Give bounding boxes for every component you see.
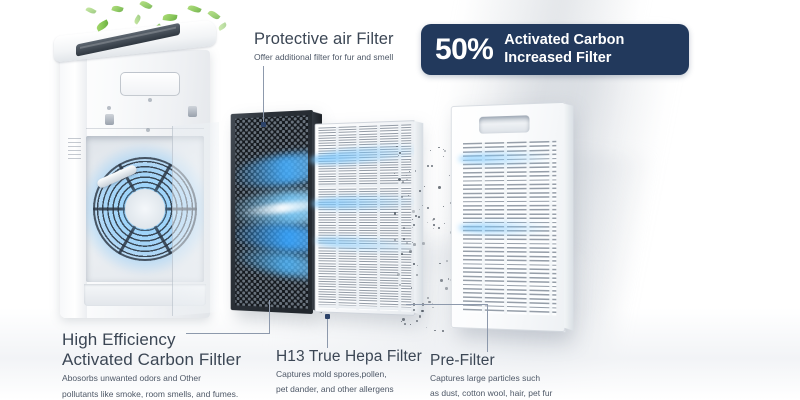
dust-particle: [418, 216, 420, 218]
purifier-side-vent: [68, 138, 81, 160]
dust-particle: [401, 196, 403, 198]
dust-particle: [404, 323, 406, 325]
pre-filter-handle-slot: [479, 115, 529, 134]
label-protective-air-filter: Protective air Filter Offer additional f…: [254, 30, 394, 64]
badge-text: Activated Carbon Increased Filter: [504, 32, 624, 67]
dust-particle: [401, 253, 403, 255]
dust-particle: [398, 178, 401, 181]
label-subtitle-line2: pet dander, and other allergens: [276, 384, 422, 396]
badge-text-line2: Increased Filter: [504, 50, 624, 68]
dust-particle: [421, 310, 424, 313]
leaf: [85, 6, 96, 15]
dust-particle: [416, 274, 419, 277]
label-subtitle-line2: pollutants like smoke, room smells, and …: [62, 389, 241, 400]
dust-particle: [419, 315, 422, 318]
dust-particle: [427, 222, 428, 223]
dust-particle: [413, 303, 416, 306]
purifier-left-face: [60, 50, 87, 318]
dust-particle: [430, 150, 431, 151]
dust-particle: [431, 165, 433, 167]
dust-particle: [413, 243, 416, 246]
dust-particle: [445, 287, 448, 290]
dust-particle: [419, 190, 421, 192]
promo-badge: 50% Activated Carbon Increased Filter: [421, 24, 689, 75]
label-subtitle: Offer additional filter for fur and smel…: [254, 52, 394, 64]
dust-particle: [440, 279, 443, 282]
purifier-latch: [188, 106, 197, 117]
activated-carbon-filter-panel: [231, 110, 313, 314]
dust-particle: [419, 209, 421, 211]
air-purifier-unit: [60, 28, 210, 318]
dust-particle: [432, 303, 433, 304]
label-subtitle-line2: as dust, cotton wool, hair, pet fur: [430, 388, 552, 400]
purifier-handle: [120, 72, 180, 96]
dust-particle: [448, 278, 450, 280]
dust-particle: [422, 303, 424, 305]
dust-particle: [432, 307, 434, 309]
dust-particle: [412, 227, 413, 228]
dust-particle: [438, 186, 441, 189]
leaf: [217, 22, 227, 31]
airflow-stream: [235, 220, 308, 257]
dust-particle: [394, 239, 396, 241]
dust-particle: [443, 206, 444, 207]
leaf: [133, 14, 142, 24]
dust-particle: [410, 160, 411, 161]
carbon-honeycomb-mesh: [235, 115, 308, 308]
dust-particle: [399, 284, 401, 286]
airflow-stream: [235, 145, 308, 192]
dust-particle: [428, 301, 431, 304]
leaf: [111, 4, 123, 13]
label-subtitle-line1: Abosorbs unwanted odors and Other: [62, 373, 241, 385]
dust-particle: [433, 218, 435, 220]
dust-particle: [443, 156, 445, 158]
label-pre-filter: Pre-Filter Captures large particles such…: [430, 352, 552, 399]
leaf: [139, 0, 152, 11]
dust-particle: [403, 238, 405, 240]
label-title: H13 True Hepa Filter: [276, 348, 422, 366]
purifier-open-door: [172, 122, 219, 316]
dust-particle: [394, 212, 396, 214]
label-subtitle-line1: Captures large particles such: [430, 373, 552, 385]
dust-particle: [433, 228, 434, 229]
dust-particle: [397, 273, 400, 276]
label-title: Protective air Filter: [254, 30, 394, 49]
dust-particle: [422, 205, 423, 206]
airflow-wisp: [239, 198, 308, 218]
dust-particle: [446, 260, 448, 262]
dust-particle: [402, 181, 404, 183]
fan-hub: [125, 189, 165, 229]
dust-particle: [422, 242, 425, 245]
label-title-line2: Activated Carbon Filtler: [62, 350, 241, 370]
dust-particle: [413, 309, 415, 311]
dust-particle: [394, 173, 395, 174]
dust-particle: [396, 146, 398, 148]
dust-particle: [406, 242, 408, 244]
leaf: [207, 9, 220, 21]
label-h13-true-hepa-filter: H13 True Hepa Filter Captures mold spore…: [276, 348, 422, 395]
dust-particle: [444, 223, 445, 224]
dust-particle: [427, 297, 429, 299]
dust-particle: [409, 250, 412, 253]
dust-particle: [427, 207, 429, 209]
dust-particle: [439, 263, 441, 265]
dust-particle: [416, 320, 418, 322]
dust-particle: [413, 224, 415, 226]
leaf: [187, 4, 201, 15]
product-infographic: Protective air Filter Offer additional f…: [0, 0, 800, 400]
dust-particle: [433, 224, 435, 226]
dust-particle: [438, 147, 439, 148]
label-subtitle-line1: Captures mold spores,pollen,: [276, 369, 422, 381]
purifier-screw: [148, 98, 152, 102]
dust-particle: [403, 227, 405, 229]
carbon-filter-frame: [231, 110, 313, 314]
pre-filter-panel: [451, 102, 566, 332]
dust-particle: [413, 263, 415, 265]
dust-particle: [410, 324, 412, 326]
dust-particle: [412, 219, 414, 221]
pre-filter-frame: [451, 102, 566, 332]
dust-particle: [424, 186, 425, 187]
dust-particle: [409, 171, 411, 173]
leaf: [163, 13, 178, 22]
label-title-line1: High Efficiency: [62, 330, 241, 350]
dust-particle: [415, 215, 417, 217]
dust-particle: [406, 175, 407, 176]
dust-particle: [406, 179, 407, 180]
dust-particle: [449, 175, 450, 176]
dust-particle: [408, 195, 409, 196]
purifier-screw: [107, 106, 111, 110]
airflow-stream: [235, 244, 308, 285]
dust-particle: [444, 150, 446, 152]
dust-particle: [398, 155, 400, 157]
dust-particle: [434, 330, 435, 331]
dust-particle: [417, 265, 419, 267]
dust-particle: [438, 227, 440, 229]
purifier-latch: [105, 114, 114, 125]
dust-particle: [415, 170, 417, 172]
pre-filter-side: [564, 104, 573, 331]
badge-percent: 50%: [435, 35, 493, 65]
dust-particle: [427, 165, 429, 167]
dust-particle: [402, 318, 405, 321]
dust-particle: [411, 287, 413, 289]
label-high-efficiency-activated-carbon-filter: High Efficiency Activated Carbon Filtler…: [62, 330, 241, 400]
label-title: Pre-Filter: [430, 352, 552, 370]
dust-particle: [401, 321, 403, 323]
dust-particle: [412, 210, 414, 212]
dust-particle: [399, 152, 401, 154]
dust-particle: [426, 327, 427, 328]
badge-text-line1: Activated Carbon: [504, 32, 624, 50]
